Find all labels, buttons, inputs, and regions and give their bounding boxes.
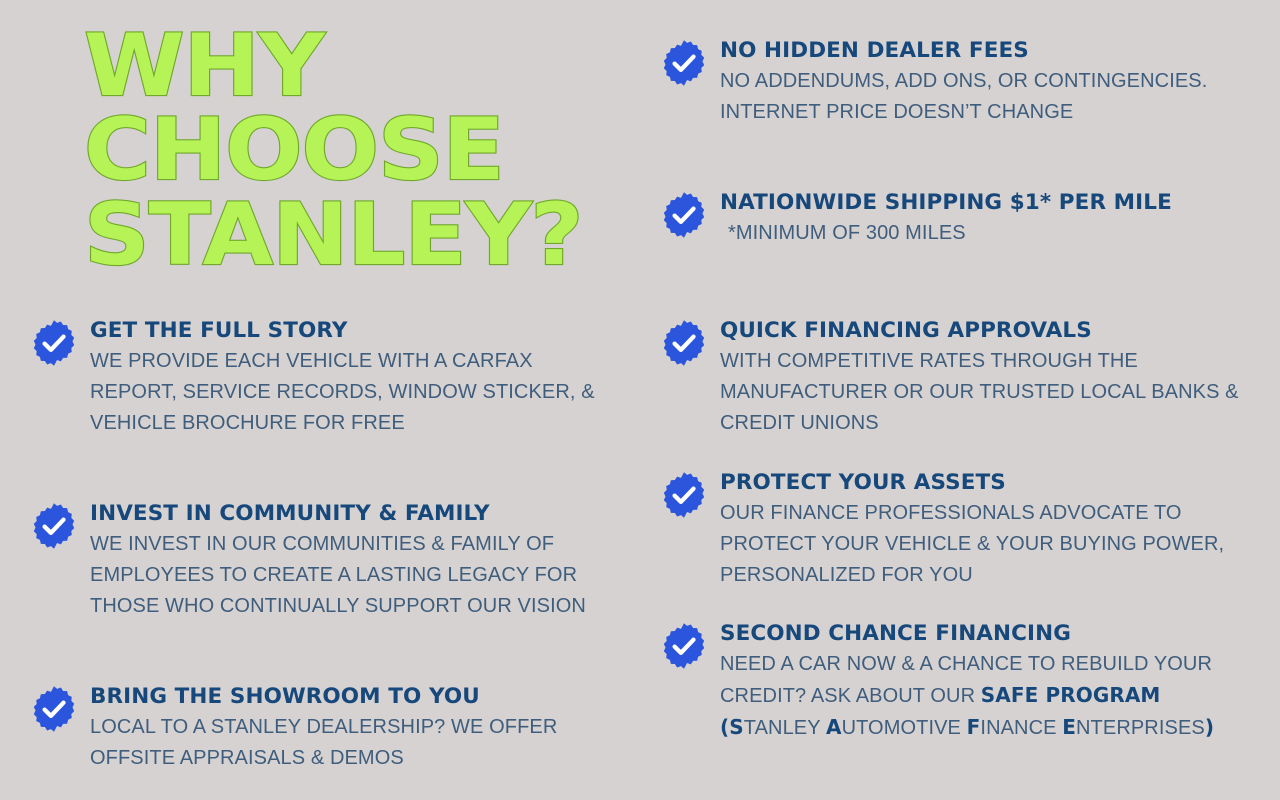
- headline-line-2: CHOOSE: [84, 108, 635, 192]
- feature-body: *MINIMUM OF 300 MILES: [720, 218, 1260, 249]
- feature-item: BRING THE SHOWROOM TO YOU LOCAL TO A STA…: [30, 684, 610, 774]
- feature-text: BRING THE SHOWROOM TO YOU LOCAL TO A STA…: [78, 684, 610, 774]
- feature-item: NO HIDDEN DEALER FEES NO ADDENDUMS, ADD …: [660, 38, 1260, 128]
- feature-title: NATIONWIDE SHIPPING $1* PER MILE: [720, 190, 1260, 216]
- feature-text: QUICK FINANCING APPROVALS WITH COMPETITI…: [708, 318, 1260, 439]
- feature-title: SECOND CHANCE FINANCING: [720, 621, 1260, 647]
- feature-item: NATIONWIDE SHIPPING $1* PER MILE *MINIMU…: [660, 190, 1260, 249]
- feature-text: SECOND CHANCE FINANCING NEED A CAR NOW &…: [708, 621, 1260, 744]
- verified-check-badge-icon: [660, 191, 708, 239]
- feature-item: INVEST IN COMMUNITY & FAMILY WE INVEST I…: [30, 501, 610, 622]
- verified-check-badge-icon: [30, 502, 78, 550]
- feature-text: PROTECT YOUR ASSETS OUR FINANCE PROFESSI…: [708, 470, 1260, 591]
- feature-body: NEED A CAR NOW & A CHANCE TO REBUILD YOU…: [720, 649, 1260, 744]
- feature-title: BRING THE SHOWROOM TO YOU: [90, 684, 610, 710]
- feature-title: NO HIDDEN DEALER FEES: [720, 38, 1260, 64]
- verified-check-badge-icon: [660, 319, 708, 367]
- verified-check-badge-icon: [30, 685, 78, 733]
- feature-body: LOCAL TO A STANLEY DEALERSHIP? WE OFFER …: [90, 712, 610, 774]
- feature-body: WE PROVIDE EACH VEHICLE WITH A CARFAX RE…: [90, 346, 610, 439]
- feature-item: QUICK FINANCING APPROVALS WITH COMPETITI…: [660, 318, 1260, 439]
- verified-check-badge-icon: [660, 39, 708, 87]
- feature-item: GET THE FULL STORY WE PROVIDE EACH VEHIC…: [30, 318, 610, 439]
- feature-text: INVEST IN COMMUNITY & FAMILY WE INVEST I…: [78, 501, 610, 622]
- feature-item: SECOND CHANCE FINANCING NEED A CAR NOW &…: [660, 621, 1260, 744]
- feature-text: NO HIDDEN DEALER FEES NO ADDENDUMS, ADD …: [708, 38, 1260, 128]
- feature-item: PROTECT YOUR ASSETS OUR FINANCE PROFESSI…: [660, 470, 1260, 591]
- feature-text: NATIONWIDE SHIPPING $1* PER MILE *MINIMU…: [708, 190, 1260, 249]
- feature-title: INVEST IN COMMUNITY & FAMILY: [90, 501, 610, 527]
- feature-title: PROTECT YOUR ASSETS: [720, 470, 1260, 496]
- page-title: WHY CHOOSE STANLEY?: [84, 24, 604, 277]
- verified-check-badge-icon: [660, 622, 708, 670]
- verified-check-badge-icon: [660, 471, 708, 519]
- feature-body: OUR FINANCE PROFESSIONALS ADVOCATE TO PR…: [720, 498, 1260, 591]
- feature-title: QUICK FINANCING APPROVALS: [720, 318, 1260, 344]
- feature-body: NO ADDENDUMS, ADD ONS, OR CONTINGENCIES.…: [720, 66, 1260, 128]
- feature-title: GET THE FULL STORY: [90, 318, 610, 344]
- verified-check-badge-icon: [30, 319, 78, 367]
- feature-body: WE INVEST IN OUR COMMUNITIES & FAMILY OF…: [90, 529, 610, 622]
- poster-root: WHY CHOOSE STANLEY? GET THE FULL STORY W…: [0, 0, 1280, 800]
- headline-line-1: WHY: [84, 24, 635, 108]
- feature-text: GET THE FULL STORY WE PROVIDE EACH VEHIC…: [78, 318, 610, 439]
- feature-body: WITH COMPETITIVE RATES THROUGH THE MANUF…: [720, 346, 1260, 439]
- headline-line-3: STANLEY?: [84, 193, 635, 277]
